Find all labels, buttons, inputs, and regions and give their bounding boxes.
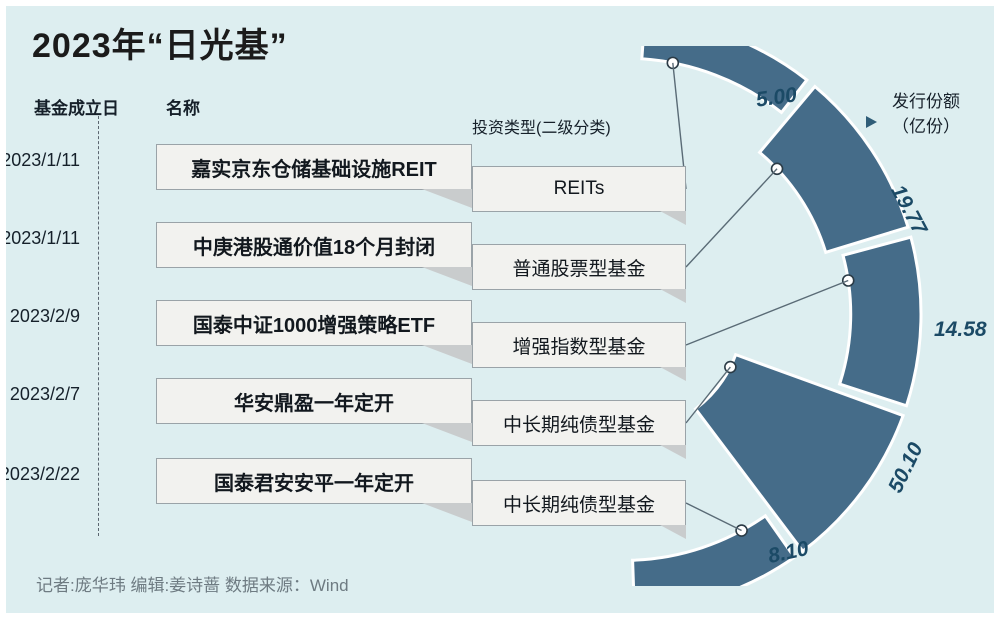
fund-type-label: 中长期纯债型基金 [503,410,655,437]
infographic-canvas: 2023年“日光基” 基金成立日 名称 投资类型(二级分类) 2023/1/11… [6,6,994,613]
legend-line-1: 发行份额 [892,90,960,115]
folded-corner-icon [422,345,472,364]
folded-corner-icon [660,211,686,225]
fund-type-label: REITs [554,178,605,200]
column-header-name: 名称 [166,94,200,119]
row-date: 2023/2/22 [6,464,80,485]
fund-name-label: 国泰君安安平一年定开 [214,467,414,496]
page-title: 2023年“日光基” [32,18,288,67]
chart-segment[interactable] [840,237,921,406]
row-date: 2023/1/11 [6,228,80,249]
folded-corner-icon [422,423,472,442]
fund-type-label: 增强指数型基金 [512,332,645,359]
folded-corner-icon [422,267,472,286]
column-header-date: 基金成立日 [34,94,119,119]
connector-dot[interactable] [736,525,747,536]
fund-name-label: 国泰中证1000增强策略ETF [193,309,435,338]
folded-corner-icon [422,503,472,522]
fund-type-box[interactable]: REITs [472,166,686,212]
fund-name-box[interactable]: 国泰中证1000增强策略ETF [156,300,472,346]
row-date: 2023/2/9 [6,306,80,327]
connector-dot[interactable] [725,362,736,373]
fund-name-box[interactable]: 中庚港股通价值18个月封闭 [156,222,472,268]
folded-corner-icon [660,445,686,459]
triangle-pointer-icon [866,116,877,128]
fund-name-box[interactable]: 国泰君安安平一年定开 [156,458,472,504]
legend-line-2: （亿份） [892,115,960,140]
footer-credits: 记者:庞华玮 编辑:姜诗蔷 数据来源：Wind [36,571,349,596]
fund-type-box[interactable]: 增强指数型基金 [472,322,686,368]
segment-value-label: 14.58 [934,318,987,342]
fund-name-label: 中庚港股通价值18个月封闭 [193,231,435,260]
folded-corner-icon [422,189,472,208]
connector-dot[interactable] [843,275,854,286]
fund-type-box[interactable]: 中长期纯债型基金 [472,400,686,446]
folded-corner-icon [660,289,686,303]
connector-dot[interactable] [772,163,783,174]
fund-name-box[interactable]: 华安鼎盈一年定开 [156,378,472,424]
fund-name-label: 华安鼎盈一年定开 [234,387,394,416]
column-header-type: 投资类型(二级分类) [472,114,611,138]
row-date: 2023/1/11 [6,150,80,171]
fund-type-box[interactable]: 普通股票型基金 [472,244,686,290]
folded-corner-icon [660,367,686,381]
fund-type-label: 普通股票型基金 [512,254,645,281]
connector-dot[interactable] [667,57,678,68]
row-date: 2023/2/7 [6,384,80,405]
timeline-axis [98,116,100,536]
fund-name-label: 嘉实京东仓储基础设施REIT [191,153,437,182]
fund-type-label: 中长期纯债型基金 [503,490,655,517]
folded-corner-icon [660,525,686,539]
fund-name-box[interactable]: 嘉实京东仓储基础设施REIT [156,144,472,190]
fund-type-box[interactable]: 中长期纯债型基金 [472,480,686,526]
chart-legend: 发行份额 （亿份） [892,90,960,139]
